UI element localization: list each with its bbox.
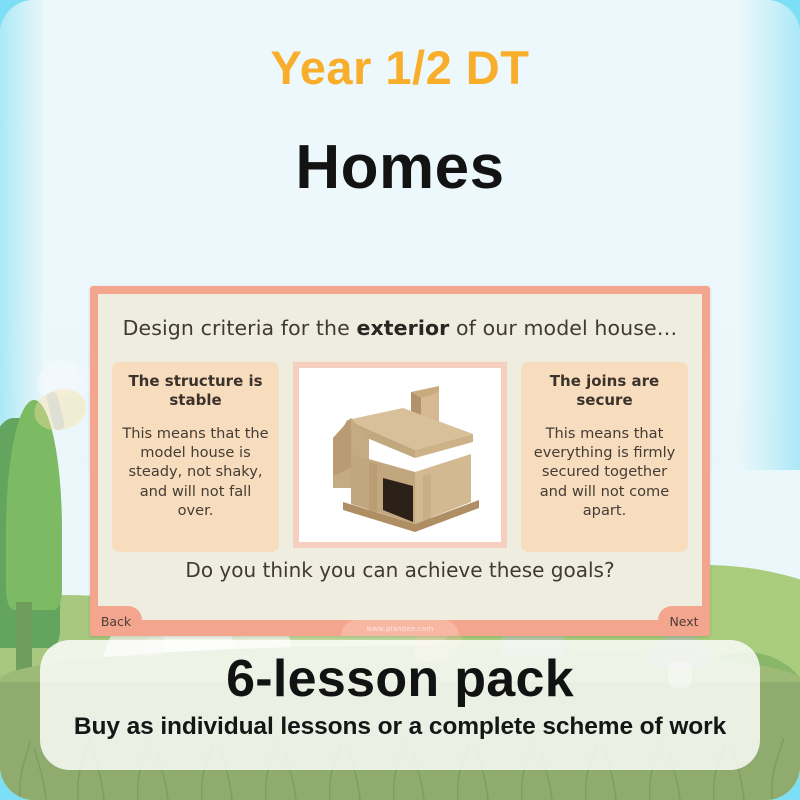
criteria-card-structure: The structure is stable This means that …	[112, 362, 279, 552]
criteria-columns: The structure is stable This means that …	[112, 362, 688, 552]
pack-subtitle: Buy as individual lessons or a complete …	[40, 713, 760, 741]
slide-canvas: Design criteria for the exterior of our …	[98, 294, 702, 620]
pack-title: 6-lesson pack	[40, 652, 760, 707]
model-house-photo	[293, 362, 507, 548]
slide-question: Do you think you can achieve these goals…	[98, 558, 702, 582]
criteria-title-joins: The joins are secure	[529, 372, 680, 410]
promo-panel: 6-lesson pack Buy as individual lessons …	[40, 640, 760, 770]
cardboard-house-illustration	[307, 376, 493, 534]
page-title: Homes	[0, 137, 800, 199]
watermark-text: www.planbee.com	[90, 625, 710, 633]
slide-preview[interactable]: Design criteria for the exterior of our …	[90, 286, 710, 636]
poster-header: Year 1/2 DT Homes	[0, 0, 800, 199]
subject-label: Year 1/2 DT	[0, 44, 800, 91]
criteria-card-joins: The joins are secure This means that eve…	[521, 362, 688, 552]
criteria-body-structure: This means that the model house is stead…	[120, 424, 271, 521]
poster-card: Year 1/2 DT Homes Design criteria for th…	[0, 0, 800, 800]
slide-heading-part1: Design criteria for the	[123, 316, 357, 340]
slide-heading-bold: exterior	[356, 316, 449, 340]
criteria-body-joins: This means that everything is firmly sec…	[529, 424, 680, 521]
criteria-title-structure: The structure is stable	[120, 372, 271, 410]
slide-heading: Design criteria for the exterior of our …	[98, 316, 702, 340]
tree-trunk	[16, 602, 32, 674]
slide-heading-part2: of our model house…	[449, 316, 677, 340]
